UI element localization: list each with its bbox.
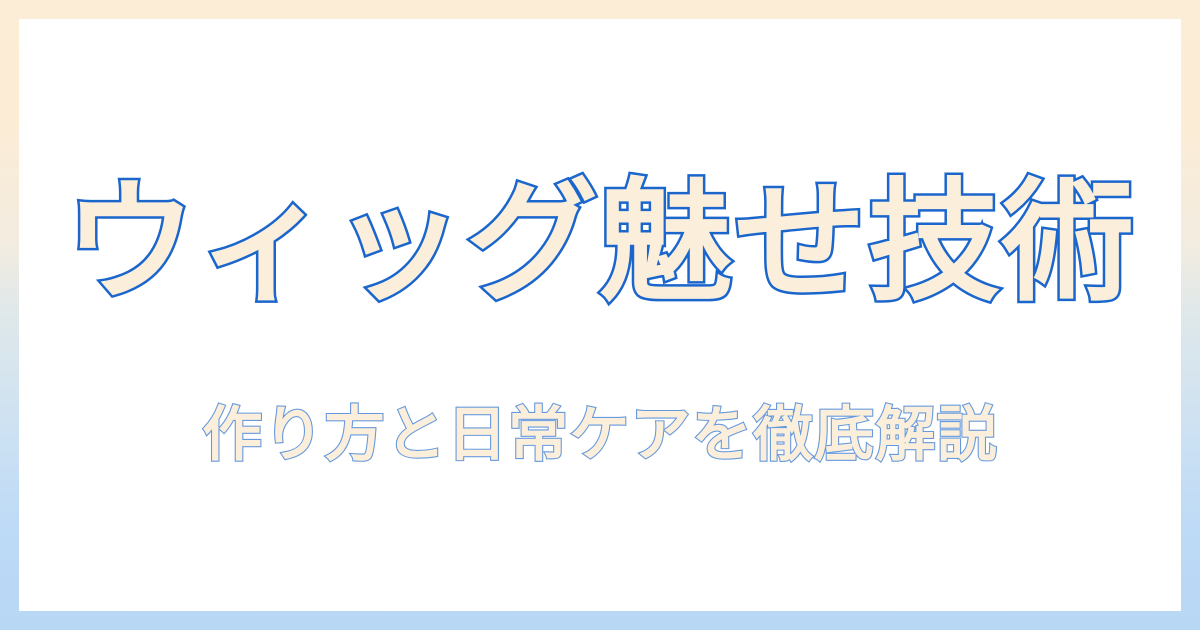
subtitle-container: 作り方と日常ケアを徹底解説 (19, 401, 1181, 470)
page-subtitle: 作り方と日常ケアを徹底解説 (202, 401, 998, 470)
eyecatch-banner: ウィッグ魅せ技術 作り方と日常ケアを徹底解説 (0, 0, 1200, 630)
content-card: ウィッグ魅せ技術 作り方と日常ケアを徹底解説 (19, 19, 1181, 611)
title-container: ウィッグ魅せ技術 (19, 167, 1181, 320)
page-title: ウィッグ魅せ技術 (64, 167, 1136, 320)
